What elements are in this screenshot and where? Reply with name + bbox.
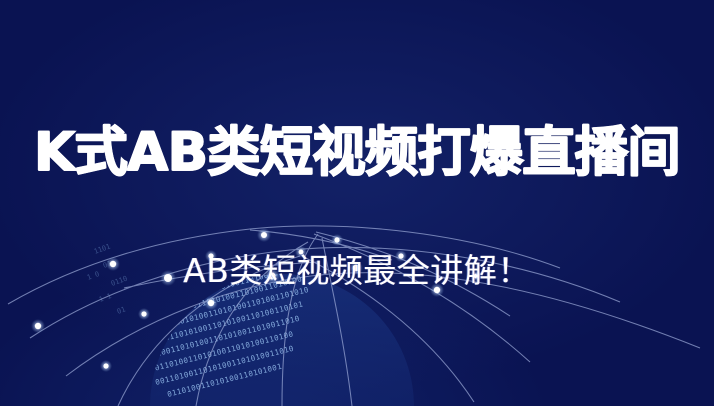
globe-binary-text: 01001100100110101001101010 0010011010011… bbox=[124, 216, 314, 399]
binary-row: 01001100100110101001101010 bbox=[188, 216, 314, 231]
globe-network-illustration: 01001100100110101001101010 0010011010011… bbox=[0, 216, 714, 406]
binary-row: 10011010011010100110101001101001101010 bbox=[126, 285, 309, 339]
network-node bbox=[261, 232, 267, 238]
network-node bbox=[208, 300, 214, 306]
poster-title: K式AB类短视频打爆直播间 bbox=[0, 121, 714, 185]
binary-row: 01 bbox=[116, 305, 127, 315]
binary-row: 011010011010100110101001 bbox=[166, 362, 283, 399]
binary-row: 0010011010011010100110101001 bbox=[168, 216, 304, 243]
promo-poster: 01001100100110101001101010 0010011010011… bbox=[0, 0, 714, 406]
binary-row: 1 1 bbox=[98, 292, 113, 304]
binary-row: 0110100110101001101010011010011010 bbox=[136, 314, 300, 363]
network-node bbox=[103, 363, 108, 368]
network-node bbox=[141, 311, 146, 316]
network-node bbox=[334, 237, 339, 242]
binary-row: 001101001101010011010100110100110101 bbox=[130, 299, 304, 351]
binary-row: 1001101001101010011010100110100 bbox=[144, 329, 294, 375]
network-node bbox=[35, 323, 41, 329]
background-wash bbox=[0, 0, 714, 406]
globe-graphic: 01001100100110101001101010 0010011010011… bbox=[0, 216, 714, 406]
binary-row: 00110100110101001101010011010 bbox=[154, 344, 295, 387]
poster-subtitle: AB类短视频最全讲解！ bbox=[0, 249, 714, 293]
globe-sphere-body bbox=[150, 274, 414, 406]
